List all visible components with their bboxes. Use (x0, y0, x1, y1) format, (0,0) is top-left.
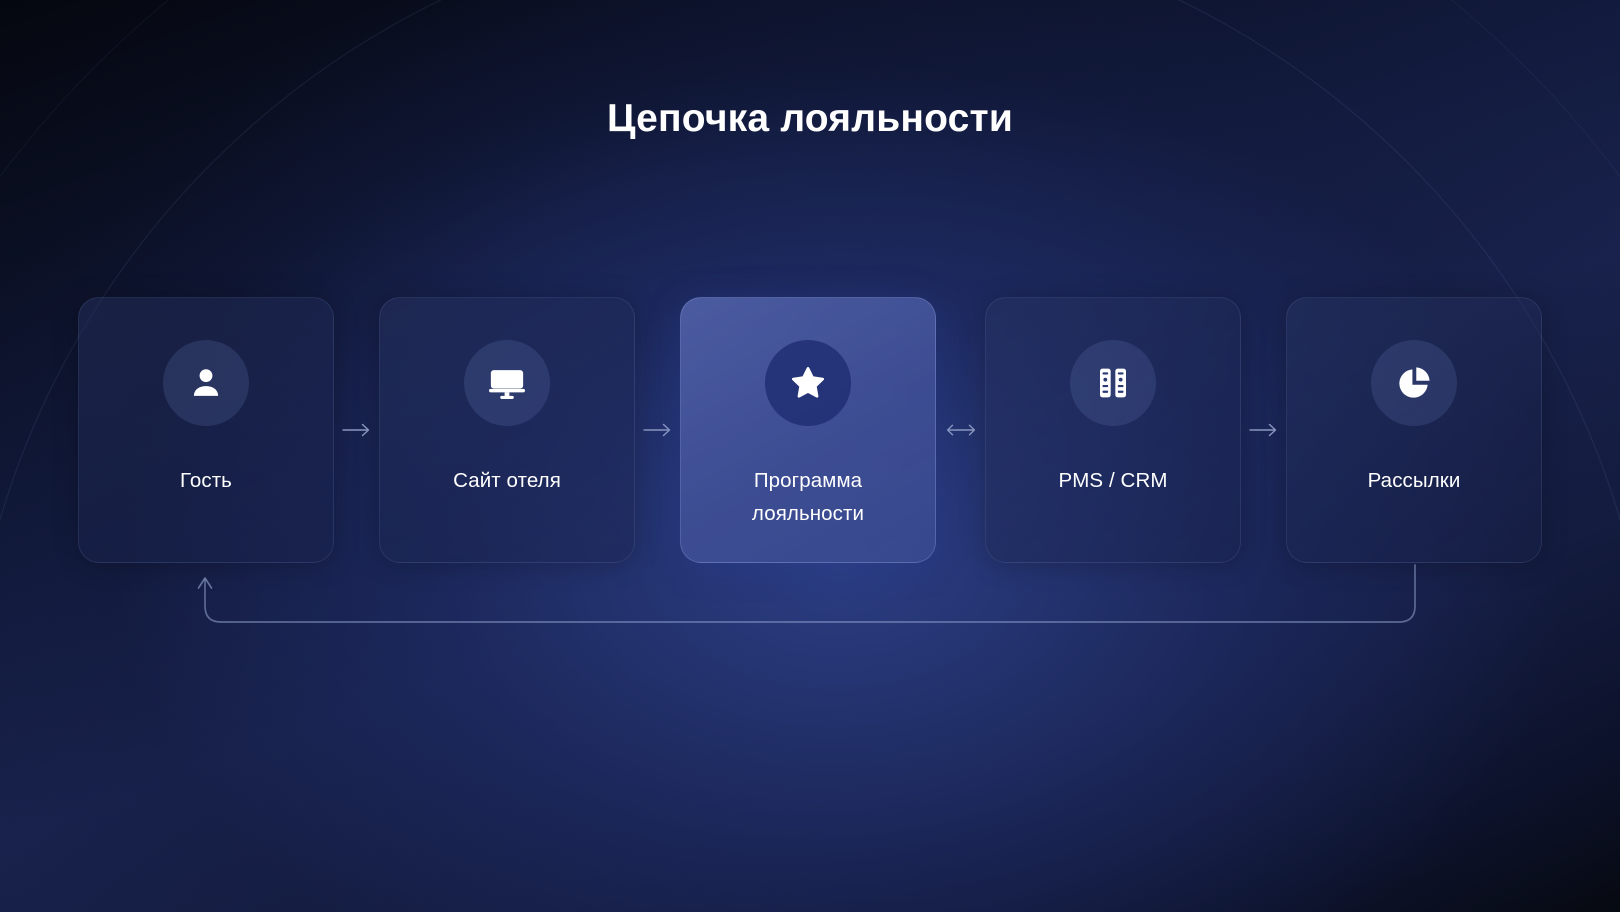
flow-step-label: Рассылки (1368, 464, 1461, 497)
connector-site-to-loyalty (635, 410, 680, 450)
flow-step-label: PMS / CRM (1058, 464, 1167, 497)
flow-step-label: Гость (180, 464, 232, 497)
flow-step-pms-crm[interactable]: PMS / CRM (985, 297, 1241, 563)
connector-loyalty-to-pms (936, 410, 985, 450)
flow-step-hotel-site[interactable]: Сайт отеля (379, 297, 635, 563)
slide-canvas: Цепочка лояльности Гость (0, 0, 1620, 912)
connector-guest-to-site (334, 410, 379, 450)
flow-step-label: Программа лояльности (703, 464, 913, 530)
loyalty-chain-flow: Гость Сайт отеля (78, 297, 1542, 563)
connector-pms-to-campaigns (1241, 410, 1286, 450)
arrow-right-icon (643, 422, 673, 438)
star-icon (765, 340, 851, 426)
flow-step-loyalty-program[interactable]: Программа лояльности (680, 297, 936, 563)
flow-step-campaigns[interactable]: Рассылки (1286, 297, 1542, 563)
pie-chart-icon (1371, 340, 1457, 426)
page-title: Цепочка лояльности (0, 96, 1620, 143)
flow-step-guest[interactable]: Гость (78, 297, 334, 563)
flow-step-label: Сайт отеля (453, 464, 561, 497)
arrow-left-right-icon (944, 422, 978, 438)
arrow-right-icon (1249, 422, 1279, 438)
person-icon (163, 340, 249, 426)
arrow-right-icon (342, 422, 372, 438)
monitor-icon (464, 340, 550, 426)
server-icon (1070, 340, 1156, 426)
